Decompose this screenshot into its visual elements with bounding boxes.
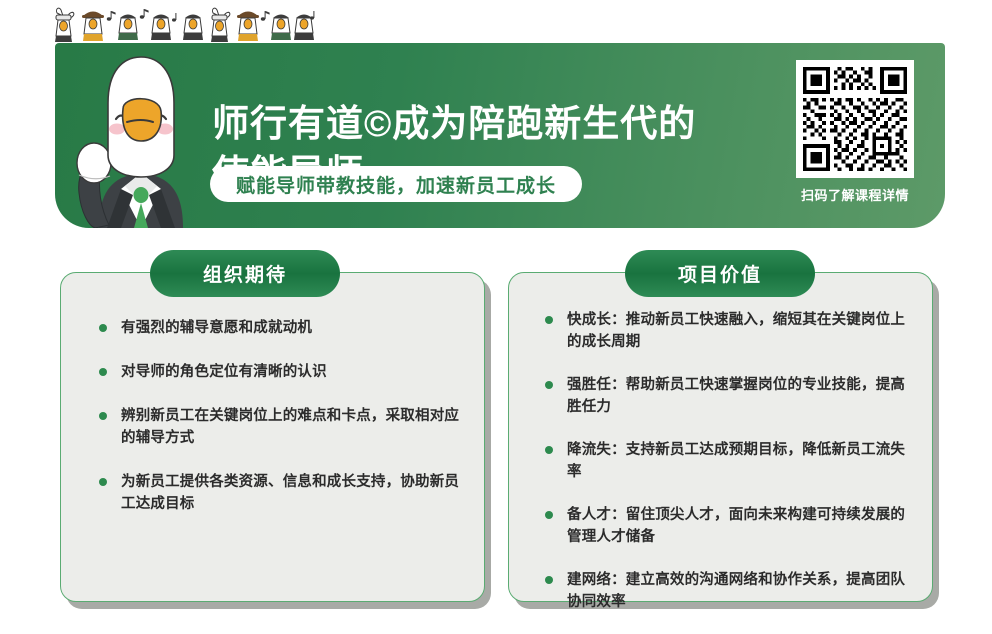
bullet-list-left: 有强烈的辅导意愿和成就动机 对导师的角色定位有清晰的认识 辨别新员工在关键岗位上…	[99, 317, 462, 537]
list-item: 强胜任：帮助新员工快速掌握岗位的专业技能，提高胜任力	[545, 374, 918, 418]
card-organization-expectation: 有强烈的辅导意愿和成就动机 对导师的角色定位有清晰的认识 辨别新员工在关键岗位上…	[60, 272, 485, 602]
list-item: 对导师的角色定位有清晰的认识	[99, 361, 462, 383]
qr-caption: 扫码了解课程详情	[793, 185, 917, 204]
card-title-project-value: 项目价值	[625, 250, 815, 297]
banner-subtitle-pill: 赋能导师带教技能，加速新员工成长	[210, 166, 582, 202]
duck-mascot-icon	[63, 43, 219, 228]
poster-page: { "banner": { "title": "师行有道©成为陪跑新生代的\n使…	[0, 0, 992, 627]
mascot-row-icon	[48, 2, 318, 46]
list-item: 为新员工提供各类资源、信息和成长支持，协助新员工达成目标	[99, 471, 462, 515]
card-body: 有强烈的辅导意愿和成就动机 对导师的角色定位有清晰的认识 辨别新员工在关键岗位上…	[60, 272, 485, 602]
list-item: 建网络：建立高效的沟通网络和协作关系，提高团队协同效率	[545, 569, 918, 613]
bullet-list-right: 快成长：推动新员工快速融入，缩短其在关键岗位上的成长周期 强胜任：帮助新员工快速…	[545, 309, 918, 634]
card-title-organization-expectation: 组织期待	[150, 250, 340, 297]
list-item: 备人才：留住顶尖人才，面向未来构建可持续发展的管理人才储备	[545, 504, 918, 548]
list-item: 快成长：推动新员工快速融入，缩短其在关键岗位上的成长周期	[545, 309, 918, 353]
qr-block: 扫码了解课程详情	[793, 60, 917, 204]
qr-code-icon[interactable]	[796, 60, 914, 178]
list-item: 降流失：支持新员工达成预期目标，降低新员工流失率	[545, 439, 918, 483]
card-body: 快成长：推动新员工快速融入，缩短其在关键岗位上的成长周期 强胜任：帮助新员工快速…	[508, 272, 933, 602]
header-banner: 师行有道©成为陪跑新生代的 使能导师 赋能导师带教技能，加速新员工成长	[55, 43, 945, 228]
card-project-value: 快成长：推动新员工快速融入，缩短其在关键岗位上的成长周期 强胜任：帮助新员工快速…	[508, 272, 933, 602]
list-item: 辨别新员工在关键岗位上的难点和卡点，采取相对应的辅导方式	[99, 405, 462, 449]
list-item: 有强烈的辅导意愿和成就动机	[99, 317, 462, 339]
banner-subtitle-text: 赋能导师带教技能，加速新员工成长	[236, 171, 556, 198]
